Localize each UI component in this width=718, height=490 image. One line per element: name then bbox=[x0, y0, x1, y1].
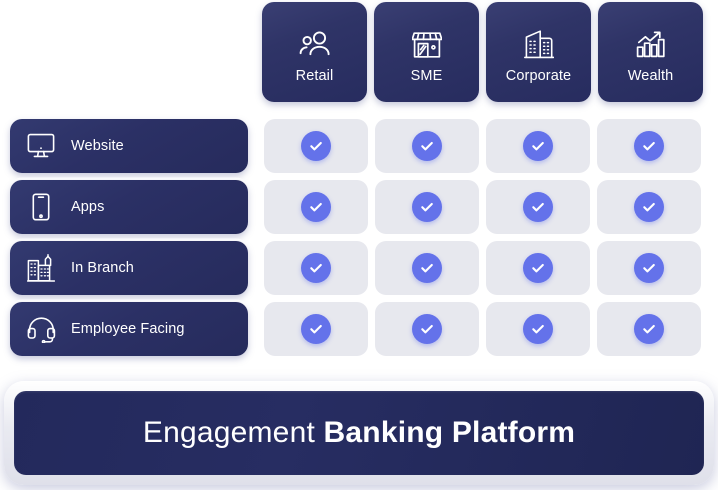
matrix-row bbox=[264, 119, 712, 173]
check-circle-icon bbox=[523, 192, 553, 222]
smartphone-icon bbox=[25, 191, 57, 223]
check-circle-icon bbox=[412, 253, 442, 283]
channel-label: In Branch bbox=[71, 260, 134, 276]
matrix-cell-employee-facing-corporate[interactable] bbox=[486, 302, 590, 356]
segment-label: Corporate bbox=[506, 69, 571, 84]
channel-card-website[interactable]: Website bbox=[10, 119, 248, 173]
check-circle-icon bbox=[634, 253, 664, 283]
capability-matrix-grid bbox=[264, 119, 712, 363]
storefront-icon bbox=[407, 26, 447, 62]
channel-card-employee-facing[interactable]: Employee Facing bbox=[10, 302, 248, 356]
check-circle-icon bbox=[523, 253, 553, 283]
growth-bar-chart-icon bbox=[631, 26, 671, 62]
branch-building-icon bbox=[25, 252, 57, 284]
matrix-cell-in-branch-retail[interactable] bbox=[264, 241, 368, 295]
matrix-cell-apps-retail[interactable] bbox=[264, 180, 368, 234]
matrix-cell-in-branch-sme[interactable] bbox=[375, 241, 479, 295]
check-circle-icon bbox=[412, 131, 442, 161]
matrix-cell-employee-facing-sme[interactable] bbox=[375, 302, 479, 356]
matrix-cell-apps-corporate[interactable] bbox=[486, 180, 590, 234]
check-circle-icon bbox=[523, 131, 553, 161]
segment-card-retail[interactable]: Retail bbox=[262, 2, 367, 102]
matrix-cell-employee-facing-retail[interactable] bbox=[264, 302, 368, 356]
segment-card-wealth[interactable]: Wealth bbox=[598, 2, 703, 102]
check-circle-icon bbox=[634, 314, 664, 344]
check-circle-icon bbox=[412, 314, 442, 344]
check-circle-icon bbox=[634, 131, 664, 161]
matrix-cell-website-wealth[interactable] bbox=[597, 119, 701, 173]
channel-card-apps[interactable]: Apps bbox=[10, 180, 248, 234]
matrix-cell-website-corporate[interactable] bbox=[486, 119, 590, 173]
segment-card-sme[interactable]: SME bbox=[374, 2, 479, 102]
segment-label: SME bbox=[411, 69, 443, 84]
check-circle-icon bbox=[301, 192, 331, 222]
matrix-cell-website-sme[interactable] bbox=[375, 119, 479, 173]
channel-label: Apps bbox=[71, 199, 104, 215]
segment-label: Wealth bbox=[628, 69, 673, 84]
capability-matrix-diagram: Retail SME bbox=[0, 0, 718, 490]
segment-card-corporate[interactable]: Corporate bbox=[486, 2, 591, 102]
channel-label: Website bbox=[71, 138, 124, 154]
channel-label: Employee Facing bbox=[71, 321, 185, 337]
check-circle-icon bbox=[301, 253, 331, 283]
matrix-cell-website-retail[interactable] bbox=[264, 119, 368, 173]
platform-banner-text: Engagement Banking Platform bbox=[143, 416, 575, 450]
matrix-row bbox=[264, 241, 712, 295]
segment-label: Retail bbox=[296, 69, 334, 84]
check-circle-icon bbox=[412, 192, 442, 222]
platform-banner[interactable]: Engagement Banking Platform bbox=[14, 391, 704, 475]
matrix-row bbox=[264, 302, 712, 356]
check-circle-icon bbox=[301, 131, 331, 161]
channel-label-column: Website Apps bbox=[10, 119, 248, 363]
matrix-row bbox=[264, 180, 712, 234]
matrix-cell-apps-sme[interactable] bbox=[375, 180, 479, 234]
matrix-cell-in-branch-wealth[interactable] bbox=[597, 241, 701, 295]
people-icon bbox=[295, 26, 335, 62]
matrix-cell-employee-facing-wealth[interactable] bbox=[597, 302, 701, 356]
segment-header-row: Retail SME bbox=[262, 2, 712, 102]
desktop-monitor-icon bbox=[25, 130, 57, 162]
headset-icon bbox=[25, 313, 57, 345]
matrix-cell-in-branch-corporate[interactable] bbox=[486, 241, 590, 295]
channel-card-in-branch[interactable]: In Branch bbox=[10, 241, 248, 295]
platform-banner-frame: Engagement Banking Platform bbox=[4, 381, 714, 485]
platform-banner-text-bold: Banking Platform bbox=[324, 416, 576, 449]
check-circle-icon bbox=[301, 314, 331, 344]
matrix-cell-apps-wealth[interactable] bbox=[597, 180, 701, 234]
check-circle-icon bbox=[523, 314, 553, 344]
office-buildings-icon bbox=[519, 26, 559, 62]
platform-banner-text-regular: Engagement bbox=[143, 416, 315, 449]
check-circle-icon bbox=[634, 192, 664, 222]
